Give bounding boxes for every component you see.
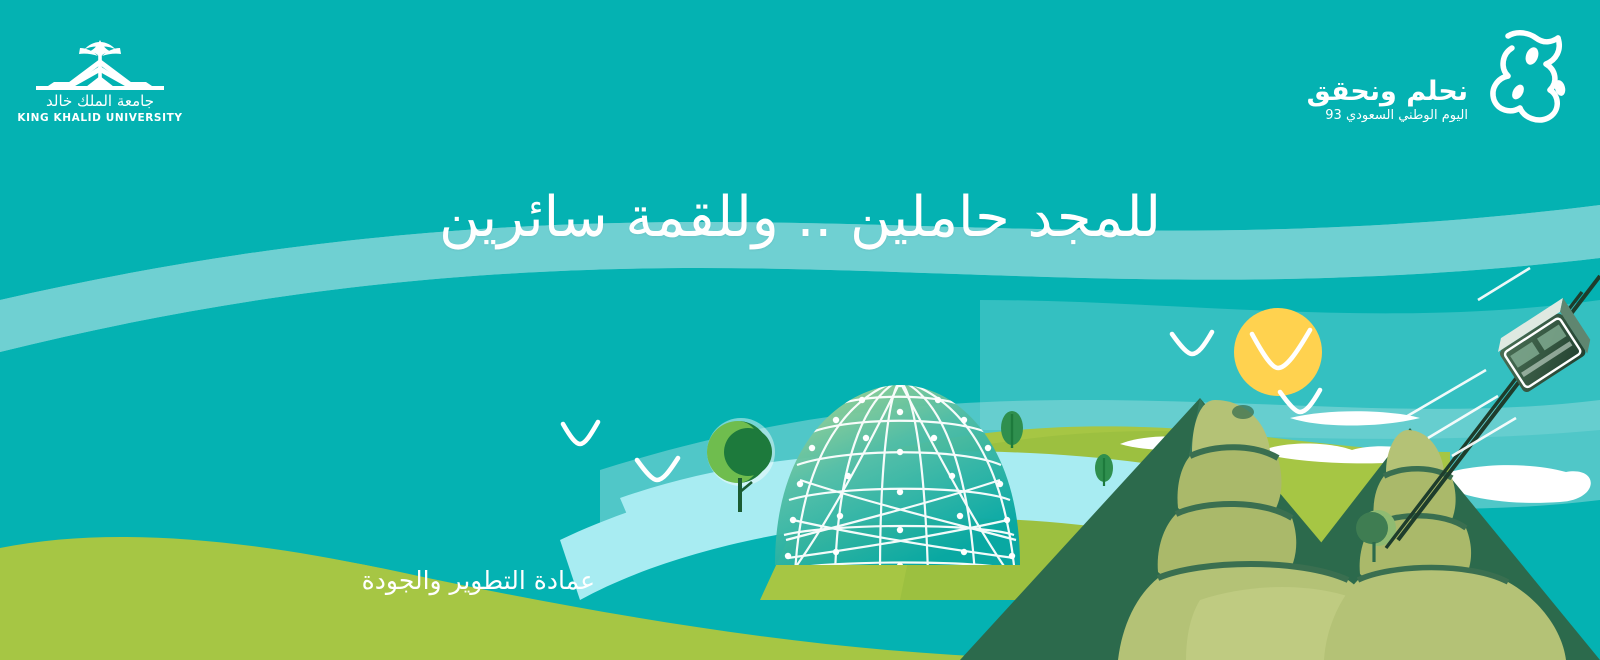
banner-headline: للمجد حاملين .. وللقمة سائرين — [0, 186, 1600, 250]
national-day-banner: جامعة الملك خالد KING KHALID UNIVERSITY — [0, 0, 1600, 660]
kku-emblem-icon — [14, 36, 186, 92]
kku-english-name: KING KHALID UNIVERSITY — [14, 112, 186, 124]
national-day-slogan: نحلم ونحقق — [1307, 76, 1468, 107]
national-day-subtitle: اليوم الوطني السعودي 93 — [1325, 108, 1468, 123]
king-khalid-university-logo[interactable]: جامعة الملك خالد KING KHALID UNIVERSITY — [14, 36, 186, 132]
kku-arabic-name: جامعة الملك خالد — [14, 92, 186, 110]
saudi-national-day-93-logo[interactable]: نحلم ونحقق اليوم الوطني السعودي 93 — [1310, 26, 1578, 134]
sun — [1234, 308, 1322, 396]
deanship-label: عمادة التطوير والجودة — [0, 566, 595, 595]
